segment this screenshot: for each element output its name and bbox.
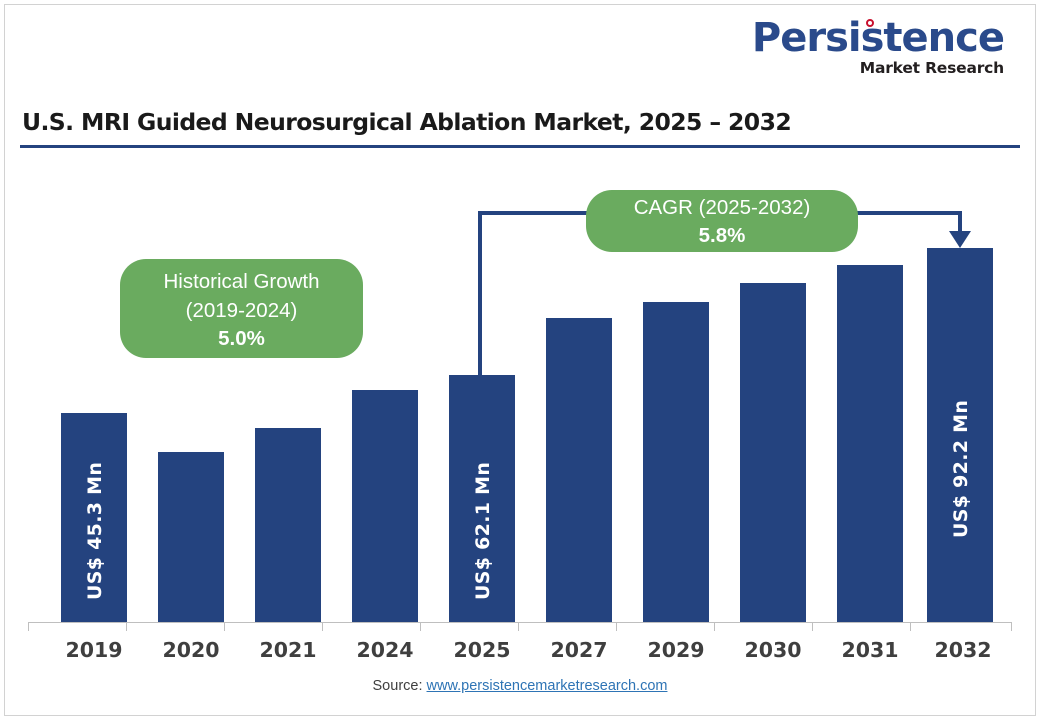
x-axis-label-2030: 2030 — [723, 638, 823, 662]
x-axis-tick — [812, 622, 813, 631]
bar-2029[interactable] — [643, 302, 709, 622]
x-axis-tick — [224, 622, 225, 631]
x-axis-tick — [910, 622, 911, 631]
x-axis-label-2020: 2020 — [141, 638, 241, 662]
x-axis-label-2021: 2021 — [238, 638, 338, 662]
bar-2024[interactable] — [352, 390, 418, 622]
source-link[interactable]: www.persistencemarketresearch.com — [427, 678, 668, 694]
cagr-line1: CAGR (2025-2032) — [586, 193, 858, 222]
x-axis-label-2027: 2027 — [529, 638, 629, 662]
x-axis-label-2024: 2024 — [335, 638, 435, 662]
x-axis-tick — [1011, 622, 1012, 631]
x-axis-tick — [714, 622, 715, 631]
bar-2027[interactable] — [546, 318, 612, 622]
bar-2030[interactable] — [740, 283, 806, 622]
x-axis-line — [28, 622, 1012, 623]
chart-page: Persistence Market Research U.S. MRI Gui… — [0, 0, 1040, 720]
x-axis-tick — [420, 622, 421, 631]
x-axis-label-2019: 2019 — [44, 638, 144, 662]
cagr-arrow-head-icon — [949, 231, 971, 248]
bar-2021[interactable] — [255, 428, 321, 622]
bar-chart-plot: US$ 45.3 Mn US$ 62.1 Mn US$ 92.2 Mn 2019… — [0, 0, 1040, 720]
source-footer: Source: www.persistencemarketresearch.co… — [0, 678, 1040, 694]
cagr-connector-vertical-start — [478, 211, 482, 379]
historical-growth-value: 5.0% — [120, 325, 363, 353]
x-axis-label-2025: 2025 — [432, 638, 532, 662]
x-axis-label-2031: 2031 — [820, 638, 920, 662]
bar-2020[interactable] — [158, 452, 224, 622]
historical-growth-line1: Historical Growth — [120, 267, 363, 296]
source-prefix: Source: — [373, 678, 427, 694]
cagr-value: 5.8% — [586, 222, 858, 250]
x-axis-tick — [518, 622, 519, 631]
bar-label-2032: US$ 92.2 Mn — [950, 400, 972, 538]
x-axis-label-2032: 2032 — [913, 638, 1013, 662]
x-axis-label-2029: 2029 — [626, 638, 726, 662]
bar-2031[interactable] — [837, 265, 903, 622]
x-axis-tick — [126, 622, 127, 631]
x-axis-tick — [322, 622, 323, 631]
bar-label-2019: US$ 45.3 Mn — [84, 462, 106, 600]
historical-growth-line2: (2019-2024) — [120, 296, 363, 325]
bar-label-2025: US$ 62.1 Mn — [472, 462, 494, 600]
x-axis-tick — [28, 622, 29, 631]
x-axis-tick — [616, 622, 617, 631]
historical-growth-callout: Historical Growth (2019-2024) 5.0% — [120, 259, 363, 358]
cagr-callout: CAGR (2025-2032) 5.8% — [586, 190, 858, 252]
